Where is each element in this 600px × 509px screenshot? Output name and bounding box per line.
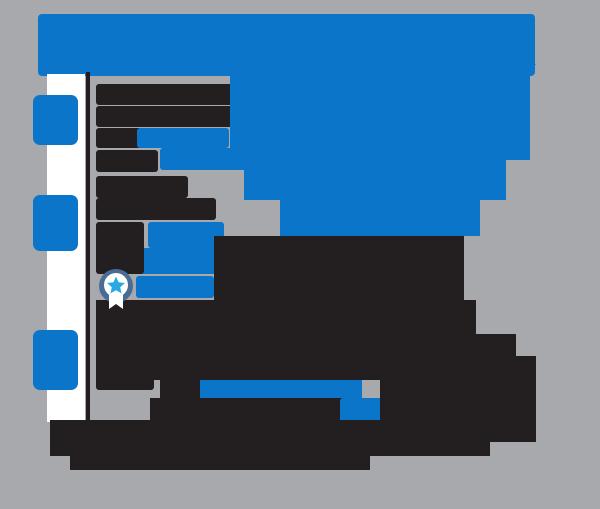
award-ribbon-star-icon	[98, 264, 134, 316]
section-1-body-a	[230, 76, 530, 160]
section-1-line-3	[96, 150, 158, 172]
section-2-link-1[interactable]	[138, 248, 224, 274]
section-1-body-b	[244, 158, 506, 200]
header-banner	[38, 14, 535, 76]
section-1-body-c	[280, 198, 480, 236]
section-2-link-2[interactable]	[136, 276, 214, 298]
document-page	[0, 0, 600, 509]
section-3-body-d	[70, 448, 370, 470]
section-2-line-1	[96, 176, 188, 198]
left-rail	[47, 74, 85, 422]
section-2-heading	[148, 222, 224, 248]
section-2-line-2	[96, 198, 216, 220]
section-1-link-1[interactable]	[137, 128, 229, 148]
rail-marker-1[interactable]	[33, 95, 78, 145]
rail-marker-2[interactable]	[33, 195, 78, 251]
vertical-divider	[86, 72, 90, 424]
rail-marker-3[interactable]	[33, 330, 78, 390]
